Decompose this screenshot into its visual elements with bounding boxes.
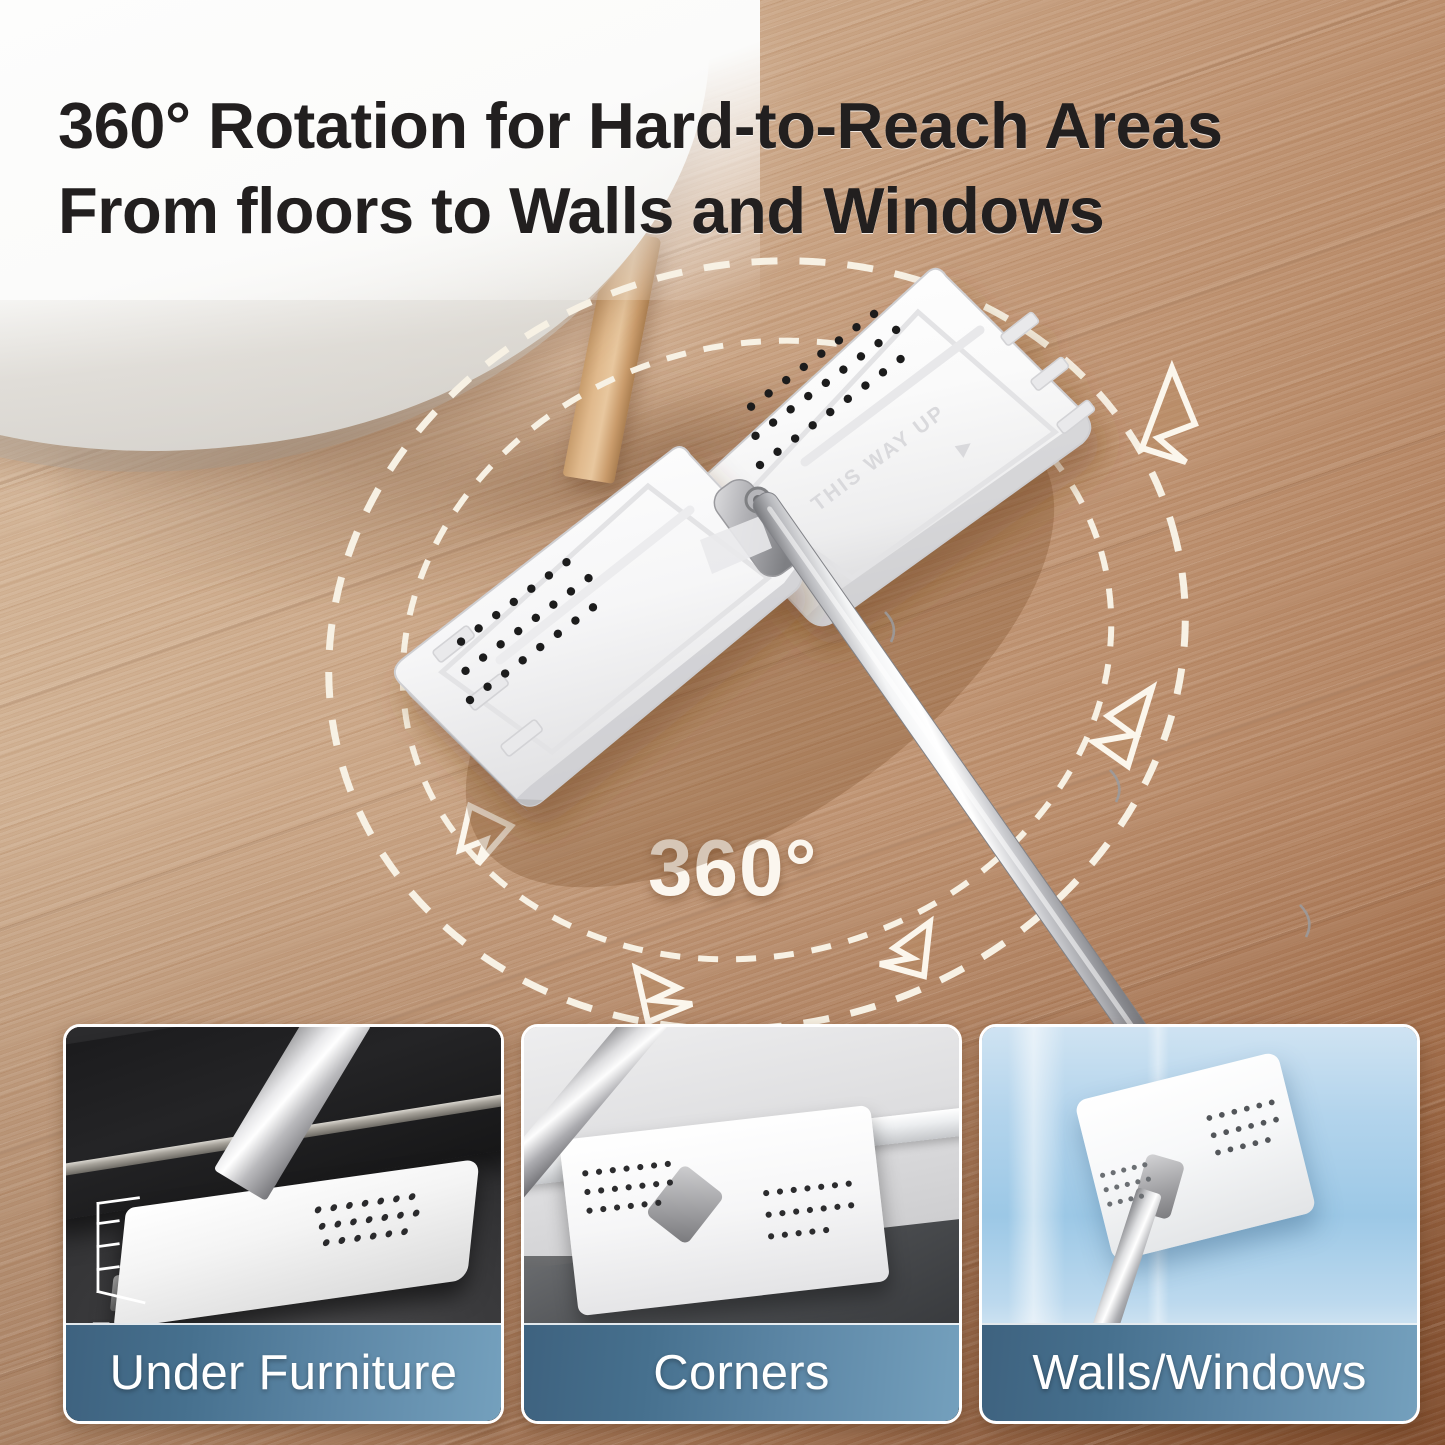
pole-collar-3 <box>1300 905 1309 937</box>
headline-line-1: 360° Rotation for Hard-to-Reach Areas <box>58 89 1222 162</box>
feature-panel-under-furniture[interactable]: 5CM Under Furniture <box>63 1024 504 1424</box>
panel-caption-corners: Corners <box>524 1323 959 1421</box>
headline-line-2: From floors to Walls and Windows <box>58 169 1418 254</box>
pole-collar-2 <box>1110 770 1119 802</box>
panel-caption-walls-windows: Walls/Windows <box>982 1323 1417 1421</box>
panel-caption-text: Under Furniture <box>110 1345 458 1401</box>
feature-panel-walls-windows[interactable]: Walls/Windows <box>979 1024 1420 1424</box>
feature-panels: 5CM Under Furniture <box>63 1024 1420 1424</box>
height-measurement-bracket <box>88 1196 158 1306</box>
headline: 360° Rotation for Hard-to-Reach Areas Fr… <box>58 84 1418 253</box>
product-feature-graphic: .dash-o { fill:none; stroke:#f7f1e4; str… <box>0 0 1445 1445</box>
feature-panel-corners[interactable]: Corners <box>521 1024 962 1424</box>
panel-caption-text: Walls/Windows <box>1032 1345 1366 1401</box>
panel-caption-under-furniture: Under Furniture <box>66 1323 501 1421</box>
panel-caption-text: Corners <box>653 1345 829 1401</box>
